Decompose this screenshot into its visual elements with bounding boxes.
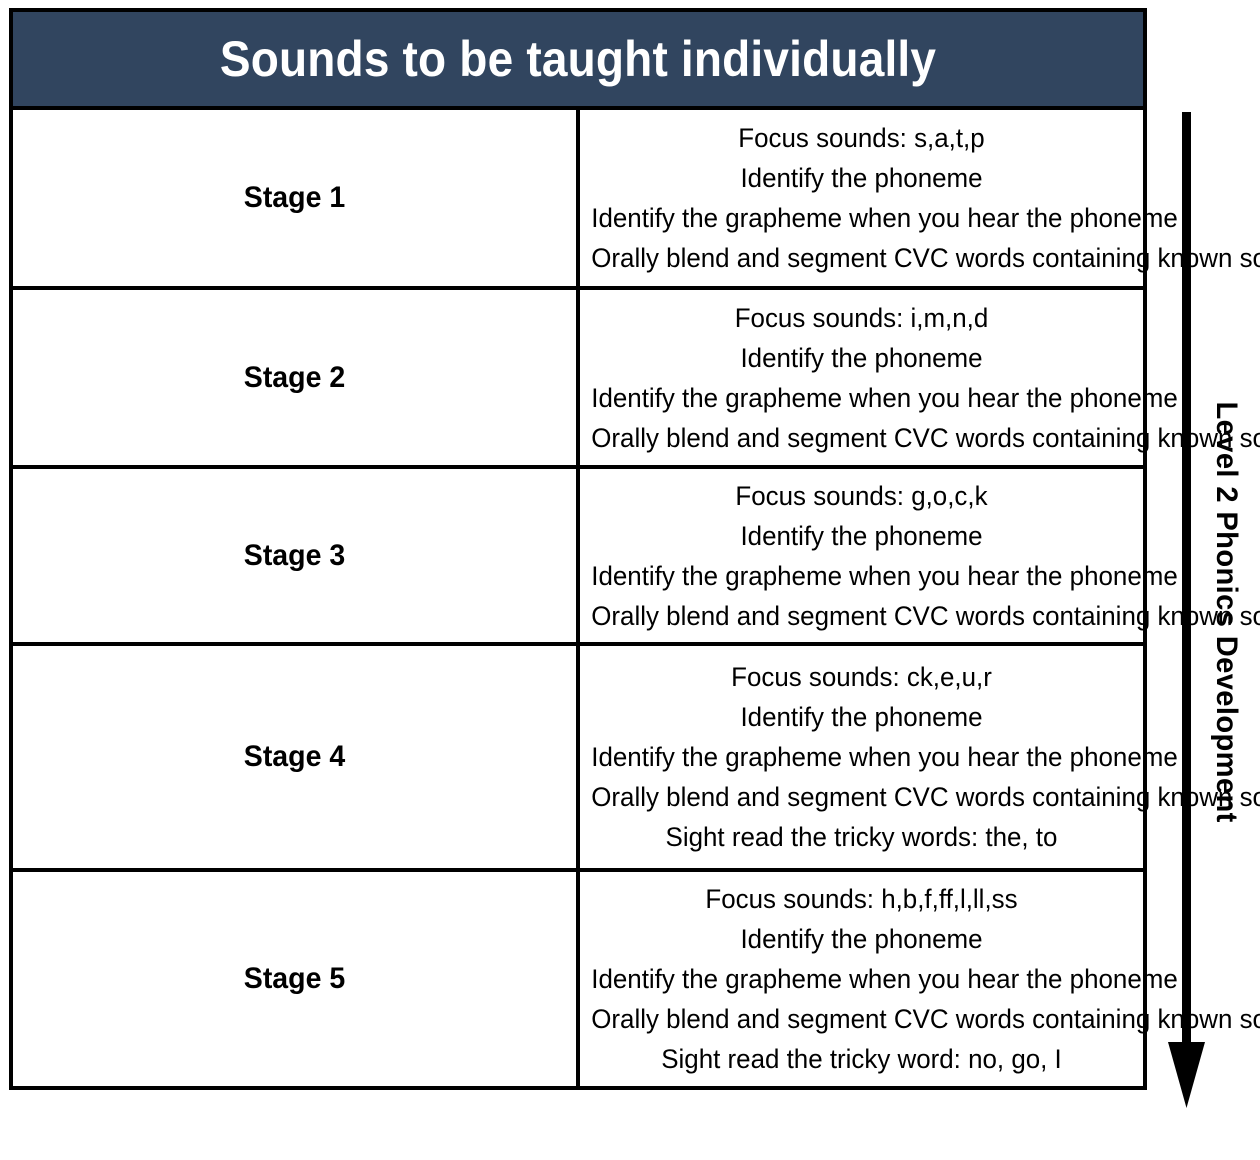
down-arrow-icon <box>1158 112 1218 1112</box>
detail-line: Identify the phoneme <box>591 338 1131 378</box>
detail-line: Identify the phoneme <box>591 697 1131 737</box>
stage-label-cell-2: Stage 2 <box>11 288 578 467</box>
stage-label: Stage 1 <box>27 181 562 215</box>
detail-line: Orally blend and segment CVC words conta… <box>591 596 1131 636</box>
stage-label: Stage 4 <box>27 740 562 774</box>
stage-label-cell-3: Stage 3 <box>11 467 578 644</box>
detail-line: Identify the grapheme when you hear the … <box>591 556 1131 596</box>
stage-label: Stage 3 <box>27 539 562 573</box>
stage-label: Stage 2 <box>27 361 562 395</box>
stage-label-cell-1: Stage 1 <box>11 108 578 288</box>
stage-label-cell-4: Stage 4 <box>11 644 578 870</box>
detail-line: Focus sounds: i,m,n,d <box>591 298 1131 338</box>
detail-line: Focus sounds: s,a,t,p <box>591 118 1131 158</box>
page-title: Sounds to be taught individually <box>58 12 1098 106</box>
table-header-cell: Sounds to be taught individually <box>11 10 1145 108</box>
detail-line: Identify the grapheme when you hear the … <box>591 959 1131 999</box>
detail-line: Identify the grapheme when you hear the … <box>591 198 1131 238</box>
detail-line: Focus sounds: g,o,c,k <box>591 476 1131 516</box>
detail-line: Orally blend and segment CVC words conta… <box>591 418 1131 458</box>
detail-line: Identify the phoneme <box>591 919 1131 959</box>
stage-detail-cell-2: Focus sounds: i,m,n,d Identify the phone… <box>578 288 1145 467</box>
table-row: Stage 2 Focus sounds: i,m,n,d Identify t… <box>11 288 1145 467</box>
stage-label-cell-5: Stage 5 <box>11 870 578 1088</box>
table-header-row: Sounds to be taught individually <box>11 10 1145 108</box>
detail-line: Identify the grapheme when you hear the … <box>591 378 1131 418</box>
detail-line: Sight read the tricky word: no, go, I <box>591 1039 1131 1079</box>
stage-detail-cell-1: Focus sounds: s,a,t,p Identify the phone… <box>578 108 1145 288</box>
table-row: Stage 4 Focus sounds: ck,e,u,r Identify … <box>11 644 1145 870</box>
detail-line: Identify the grapheme when you hear the … <box>591 737 1131 777</box>
detail-line: Orally blend and segment CVC words conta… <box>591 777 1131 817</box>
detail-line: Focus sounds: ck,e,u,r <box>591 657 1131 697</box>
detail-line: Orally blend and segment CVC words conta… <box>591 999 1131 1039</box>
detail-line: Orally blend and segment CVC words conta… <box>591 238 1131 278</box>
table-row: Stage 5 Focus sounds: h,b,f,ff,l,ll,ss I… <box>11 870 1145 1088</box>
table-row: Stage 1 Focus sounds: s,a,t,p Identify t… <box>11 108 1145 288</box>
detail-line: Focus sounds: h,b,f,ff,l,ll,ss <box>591 879 1131 919</box>
phonics-stages-table: Sounds to be taught individually Stage 1… <box>9 8 1147 1090</box>
table-row: Stage 3 Focus sounds: g,o,c,k Identify t… <box>11 467 1145 644</box>
detail-line: Sight read the tricky words: the, to <box>591 817 1131 857</box>
stage-detail-cell-5: Focus sounds: h,b,f,ff,l,ll,ss Identify … <box>578 870 1145 1088</box>
detail-line: Identify the phoneme <box>591 516 1131 556</box>
stage-label: Stage 5 <box>27 962 562 996</box>
detail-line: Identify the phoneme <box>591 158 1131 198</box>
stage-detail-cell-3: Focus sounds: g,o,c,k Identify the phone… <box>578 467 1145 644</box>
stage-detail-cell-4: Focus sounds: ck,e,u,r Identify the phon… <box>578 644 1145 870</box>
